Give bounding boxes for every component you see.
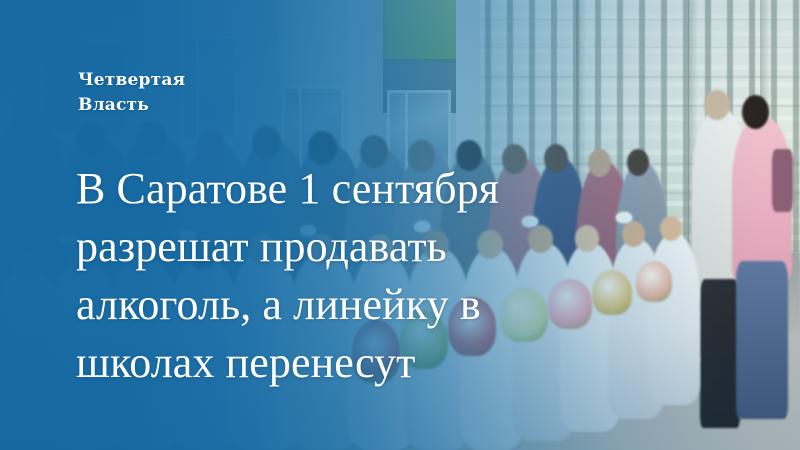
site-logo[interactable]: Четвертая Власть <box>78 68 185 118</box>
site-logo-line-1: Четвертая <box>78 68 185 93</box>
headline-line: алкоголь, а линейку в <box>76 276 636 334</box>
headline-line: школах перенесут <box>76 334 636 392</box>
headline: В Саратове 1 сентября разрешат продавать… <box>76 160 636 392</box>
headline-line: В Саратове 1 сентября <box>76 160 636 218</box>
headline-line: разрешат продавать <box>76 218 636 276</box>
news-share-card: Четвертая Власть В Саратове 1 сентября р… <box>0 0 800 450</box>
card-content: Четвертая Власть В Саратове 1 сентября р… <box>0 0 800 450</box>
site-logo-line-2: Власть <box>78 93 185 118</box>
